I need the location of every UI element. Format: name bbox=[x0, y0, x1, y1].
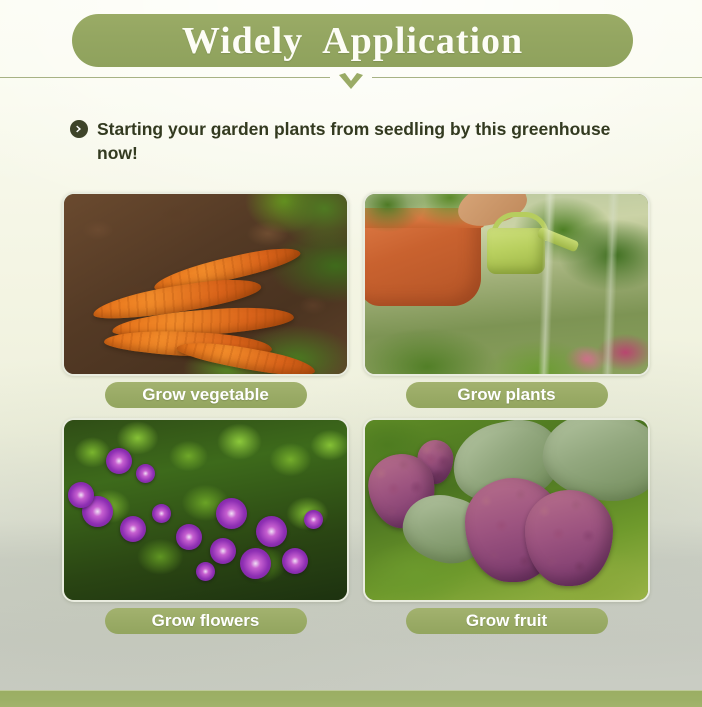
chevron-down-icon bbox=[331, 70, 371, 96]
card-caption: Grow fruit bbox=[406, 608, 608, 634]
page-title-pill: Widely Application bbox=[72, 14, 633, 67]
feature-card-flowers[interactable]: Grow flowers bbox=[62, 418, 349, 634]
chevron-right-circle-icon bbox=[70, 120, 88, 138]
bottom-accent-bar bbox=[0, 690, 702, 707]
divider-line-left bbox=[0, 77, 330, 78]
intro-text: Starting your garden plants from seedlin… bbox=[97, 117, 640, 165]
promo-banner: Widely Application Starting your garden … bbox=[0, 0, 702, 707]
feature-card-vegetable[interactable]: Grow vegetable bbox=[62, 192, 349, 408]
feature-card-plants[interactable]: Grow plants bbox=[363, 192, 650, 408]
divider-line-right bbox=[372, 77, 702, 78]
purple-morning-glory-flowers-photo bbox=[62, 418, 349, 602]
card-caption: Grow plants bbox=[406, 382, 608, 408]
watering-can-greenhouse-plants-photo bbox=[363, 192, 650, 376]
carrots-in-soil-photo bbox=[62, 192, 349, 376]
card-caption: Grow flowers bbox=[105, 608, 307, 634]
page-title: Widely Application bbox=[182, 22, 523, 60]
section-divider bbox=[0, 76, 702, 98]
intro-bullet-row: Starting your garden plants from seedlin… bbox=[70, 117, 640, 165]
grapes-on-vine-photo bbox=[363, 418, 650, 602]
card-caption: Grow vegetable bbox=[105, 382, 307, 408]
feature-card-fruit[interactable]: Grow fruit bbox=[363, 418, 650, 634]
